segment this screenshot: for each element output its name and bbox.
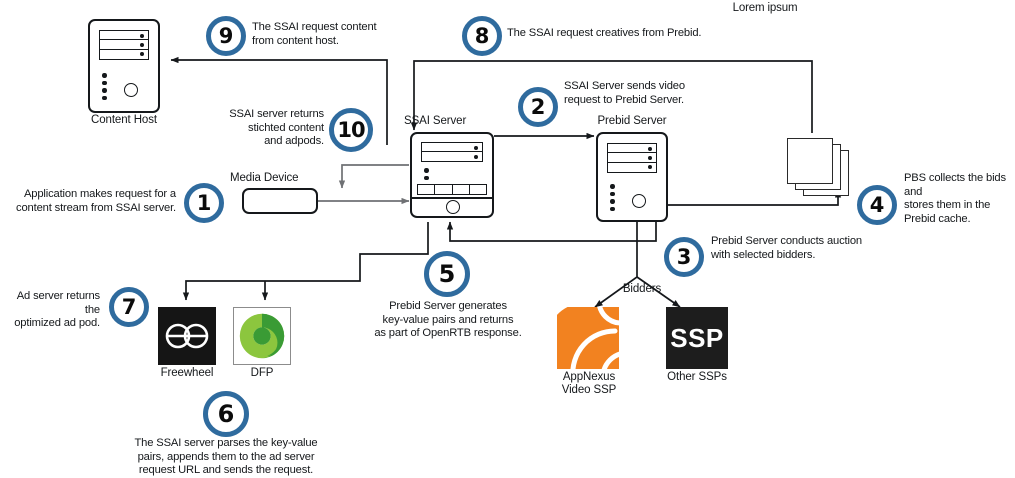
media-device-label: Media Device: [230, 172, 330, 185]
dfp-glyph: [234, 308, 290, 364]
content-host-drive-bays: [99, 30, 149, 58]
drive-bay: [421, 151, 483, 162]
power-button-icon: [446, 200, 460, 214]
prebid-server-label: Prebid Server: [584, 115, 680, 128]
ssai-server-icon: [410, 132, 494, 218]
drive-bay: [607, 162, 657, 173]
other-ssps-logo: SSP: [666, 307, 728, 369]
power-button-icon: [124, 83, 138, 97]
media-device-icon: [242, 188, 318, 214]
prebid-server-icon: [596, 132, 668, 222]
step-text-8: The SSAI request creatives from Prebid.: [507, 27, 757, 41]
step-badge-10[interactable]: 10: [329, 108, 373, 152]
step-text-2: SSAI Server sends video request to Prebi…: [564, 80, 754, 107]
step-text-9: The SSAI request content from content ho…: [252, 21, 412, 48]
step-text-6: The SSAI server parses the key-value pai…: [126, 437, 326, 478]
step-badge-8[interactable]: 8: [462, 16, 502, 56]
appnexus-logo: [557, 307, 619, 369]
bidders-label: Bidders: [614, 283, 670, 296]
drive-bay: [99, 49, 149, 60]
cache-sheet-front: [787, 138, 833, 184]
prebid-drive-bays: [607, 143, 657, 171]
step-badge-7[interactable]: 7: [109, 287, 149, 327]
content-host-label: Content Host: [74, 114, 174, 127]
prebid-cache-icon: [787, 138, 857, 200]
step-badge-4[interactable]: 4: [857, 185, 897, 225]
freewheel-glyph: [158, 307, 216, 365]
expansion-slots: [417, 184, 487, 195]
diagram-title: Lorem ipsum: [665, 2, 865, 16]
power-button-icon: [632, 194, 646, 208]
step-badge-6[interactable]: 6: [203, 391, 249, 437]
appnexus-glyph: [557, 307, 619, 369]
step-text-4: PBS collects the bids and stores them in…: [904, 172, 1015, 226]
step-text-7: Ad server returns the optimized ad pod.: [0, 290, 100, 331]
dfp-label: DFP: [228, 367, 296, 380]
freewheel-label: Freewheel: [147, 367, 227, 380]
status-leds: [424, 168, 429, 180]
step-badge-1[interactable]: 1: [184, 183, 224, 223]
ssai-server-label: SSAI Server: [404, 115, 500, 128]
chassis-divider: [412, 197, 492, 199]
status-leds: [102, 73, 107, 100]
step-text-5: Prebid Server generates key-value pairs …: [372, 300, 524, 341]
ssp-logo-text: SSP: [670, 323, 724, 354]
step-badge-5[interactable]: 5: [424, 251, 470, 297]
step-badge-9[interactable]: 9: [206, 16, 246, 56]
step-badge-3[interactable]: 3: [664, 237, 704, 277]
step-text-3: Prebid Server conducts auction with sele…: [711, 235, 911, 262]
step-text-1: Application makes request for a content …: [8, 188, 176, 215]
ssai-drive-bays: [421, 142, 483, 161]
other-ssps-label: Other SSPs: [657, 371, 737, 384]
diagram-canvas: Lorem ipsum Content Host SSAI Server: [0, 0, 1015, 473]
dfp-logo: [233, 307, 291, 365]
freewheel-logo: [158, 307, 216, 365]
status-leds: [610, 184, 615, 211]
step-badge-2[interactable]: 2: [518, 87, 558, 127]
step-text-10: SSAI server returns stichted content and…: [196, 108, 324, 149]
appnexus-label: AppNexus Video SSP: [545, 371, 633, 397]
content-host-server-icon: [88, 19, 160, 113]
